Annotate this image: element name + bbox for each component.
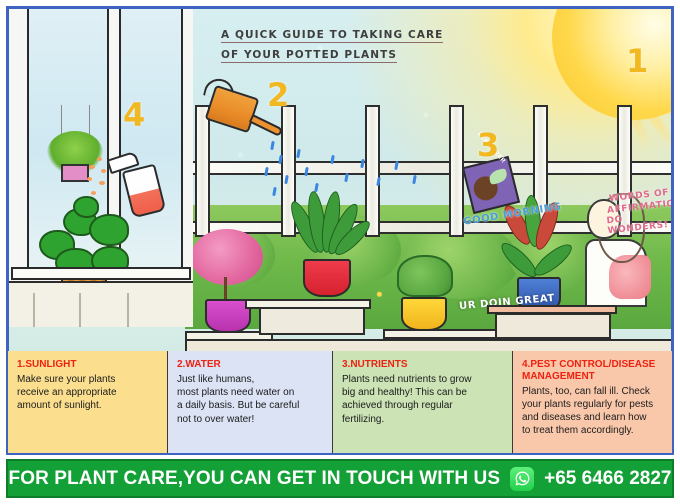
infographic-title: A QUICK GUIDE TO TAKING CARE OF YOUR POT… xyxy=(221,29,443,65)
tip-panel-sunlight: 1.SUNLIGHT Make sure your plants receive… xyxy=(8,351,168,453)
step-badge-4: 4 xyxy=(123,99,145,131)
tip-body: Make sure your plants receive an appropr… xyxy=(17,373,158,413)
whatsapp-icon[interactable] xyxy=(510,467,534,491)
shelf-block xyxy=(495,313,611,339)
tip-panel-pest-control: 4.PEST CONTROL/DISEASE MANAGEMENT Plants… xyxy=(513,351,672,453)
tip-title: 2.WATER xyxy=(177,359,323,371)
tip-panel-water: 2.WATER Just like humans, most plants ne… xyxy=(168,351,333,453)
counter-surface xyxy=(9,281,193,327)
tips-row: 1.SUNLIGHT Make sure your plants receive… xyxy=(6,351,674,455)
window-sill xyxy=(11,267,191,280)
step-badge-2: 2 xyxy=(267,79,289,111)
tip-panel-nutrients: 3.NUTRIENTS Plants need nutrients to gro… xyxy=(333,351,513,453)
tip-body: Just like humans, most plants need water… xyxy=(177,373,323,426)
tip-body: Plants need nutrients to grow big and he… xyxy=(342,373,503,426)
step-badge-3: 3 xyxy=(477,129,499,161)
shelf-ledge xyxy=(383,329,505,339)
contact-bar[interactable]: FOR PLANT CARE,YOU CAN GET IN TOUCH WITH… xyxy=(6,459,674,498)
infographic-root: FERTILIZER GOOD MORNING WORDS OF xyxy=(0,0,680,504)
tip-title: 1.SUNLIGHT xyxy=(17,359,158,371)
window-area xyxy=(9,9,193,327)
tip-title: 3.NUTRIENTS xyxy=(342,359,503,371)
tip-title: 4.PEST CONTROL/DISEASE MANAGEMENT xyxy=(522,359,663,383)
tip-body: Plants, too, can fall ill. Check your pl… xyxy=(522,385,663,438)
title-line-1: A QUICK GUIDE TO TAKING CARE xyxy=(221,29,443,43)
hanging-plant-pot xyxy=(61,164,89,182)
step-badge-1: 1 xyxy=(626,45,648,77)
title-line-2: OF YOUR POTTED PLANTS xyxy=(221,49,397,63)
contact-message: FOR PLANT CARE,YOU CAN GET IN TOUCH WITH… xyxy=(9,468,501,490)
shelf-block xyxy=(259,307,365,335)
contact-phone[interactable]: +65 6466 2827 xyxy=(544,468,671,490)
